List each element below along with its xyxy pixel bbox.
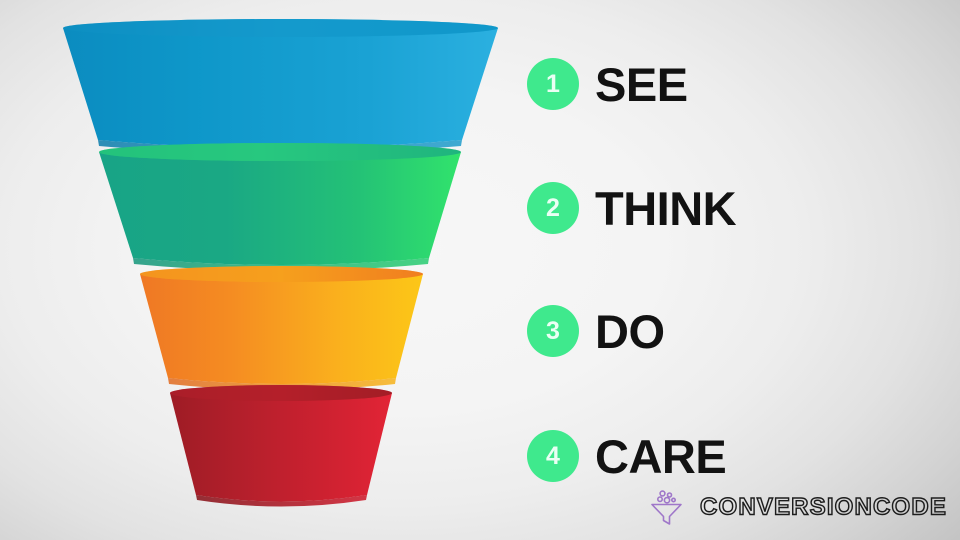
step-label-do: DO [595, 308, 665, 355]
logo-wordmark-text: CONVERSIONCODE [700, 494, 947, 521]
funnel-step-do[interactable]: 3 DO [527, 300, 665, 362]
funnel-icon [648, 487, 686, 527]
step-number-1: 1 [546, 72, 560, 97]
logo-wordmark: CONVERSIONCODE [700, 490, 948, 524]
step-badge-3: 3 [527, 305, 579, 357]
step-badge-4: 4 [527, 430, 579, 482]
funnel-step-care[interactable]: 4 CARE [527, 425, 726, 487]
step-label-think: THINK [595, 185, 736, 232]
funnel-step-think[interactable]: 2 THINK [527, 177, 736, 239]
step-number-4: 4 [546, 444, 560, 469]
step-label-see: SEE [595, 61, 688, 108]
step-number-3: 3 [546, 319, 560, 344]
slide-canvas: 1 SEE 2 THINK 3 DO 4 CARE [0, 0, 960, 540]
funnel-step-see[interactable]: 1 SEE [527, 53, 688, 115]
brand-logo[interactable]: CONVERSIONCODE [648, 487, 948, 527]
step-badge-1: 1 [527, 58, 579, 110]
funnel-step-list: 1 SEE 2 THINK 3 DO 4 CARE [527, 0, 947, 540]
step-label-care: CARE [595, 433, 726, 480]
step-number-2: 2 [546, 196, 560, 221]
step-badge-2: 2 [527, 182, 579, 234]
